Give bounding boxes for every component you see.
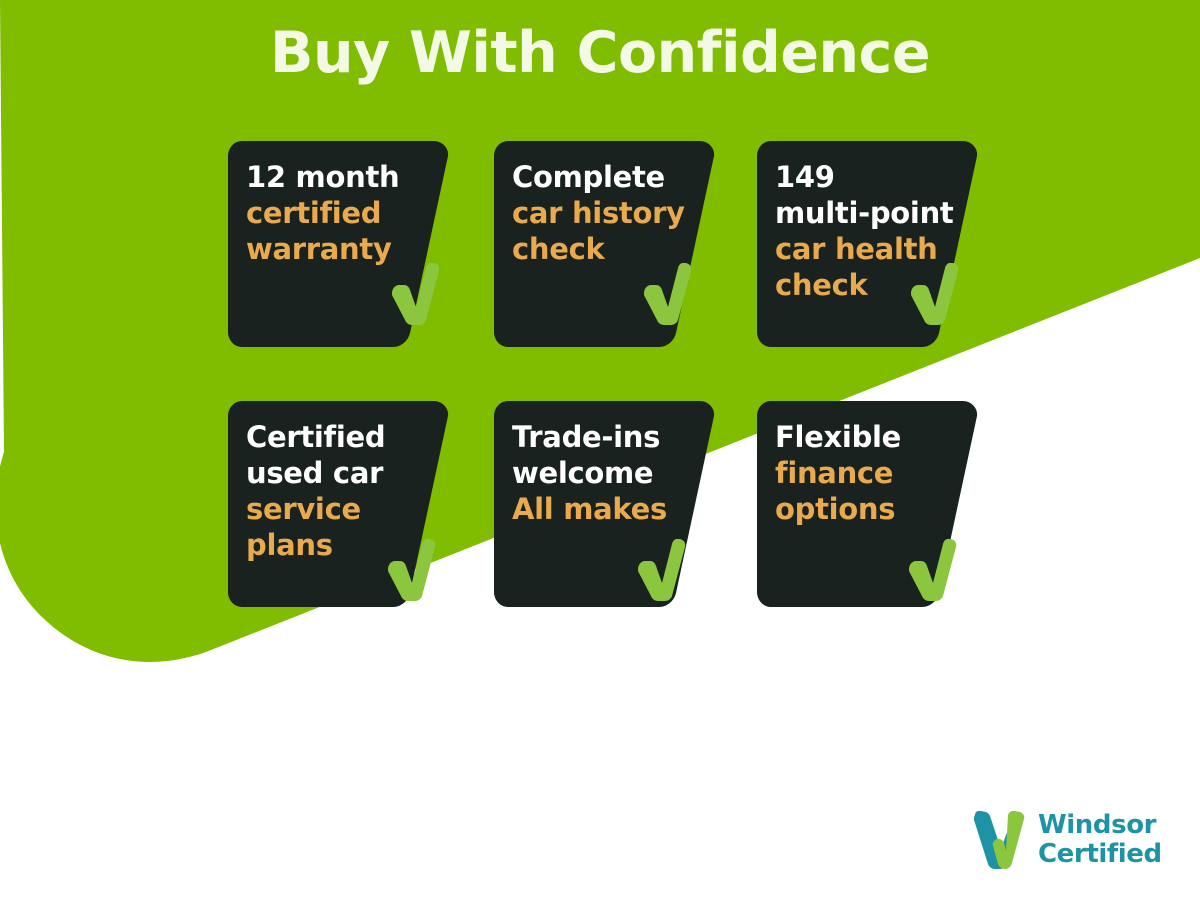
- card-line: certified: [246, 195, 432, 231]
- card-line: Complete: [512, 159, 698, 195]
- card-line: Certified: [246, 419, 432, 455]
- check-icon: [905, 539, 959, 601]
- page-title: Buy With Confidence: [0, 21, 1200, 85]
- card-text-finance-options: Flexiblefinanceoptions: [775, 419, 961, 527]
- card-line: Flexible: [775, 419, 961, 455]
- card-line: multi-point: [775, 195, 961, 231]
- card-line: used car: [246, 455, 432, 491]
- card-line: warranty: [246, 231, 432, 267]
- logo-line-certified: Certified: [1038, 840, 1162, 869]
- brand-logo[interactable]: Windsor Certified: [972, 811, 1162, 873]
- poster-canvas: Buy With Confidence 12 monthcertifiedwar…: [0, 0, 1200, 900]
- card-text-car-health-check: 149multi-pointcar healthcheck: [775, 159, 961, 303]
- check-icon: [640, 263, 694, 325]
- card-line: service: [246, 491, 432, 527]
- card-line: plans: [246, 527, 432, 563]
- windsor-w-icon: [972, 811, 1034, 869]
- card-line: check: [775, 267, 961, 303]
- card-text-certified-warranty: 12 monthcertifiedwarranty: [246, 159, 432, 267]
- card-text-car-history-check: Completecar historycheck: [512, 159, 698, 267]
- card-line: Trade-ins: [512, 419, 698, 455]
- card-line: welcome: [512, 455, 698, 491]
- card-line: 12 month: [246, 159, 432, 195]
- logo-line-windsor: Windsor: [1038, 811, 1162, 840]
- check-icon: [634, 539, 688, 601]
- card-line: check: [512, 231, 698, 267]
- card-line: car history: [512, 195, 698, 231]
- card-text-service-plans: Certifiedused carserviceplans: [246, 419, 432, 563]
- card-line: finance: [775, 455, 961, 491]
- card-text-trade-ins: Trade-inswelcomeAll makes: [512, 419, 698, 527]
- card-line: 149: [775, 159, 961, 195]
- logo-wordmark: Windsor Certified: [1038, 811, 1162, 869]
- card-line: car health: [775, 231, 961, 267]
- card-line: All makes: [512, 491, 698, 527]
- card-line: options: [775, 491, 961, 527]
- check-icon: [388, 263, 442, 325]
